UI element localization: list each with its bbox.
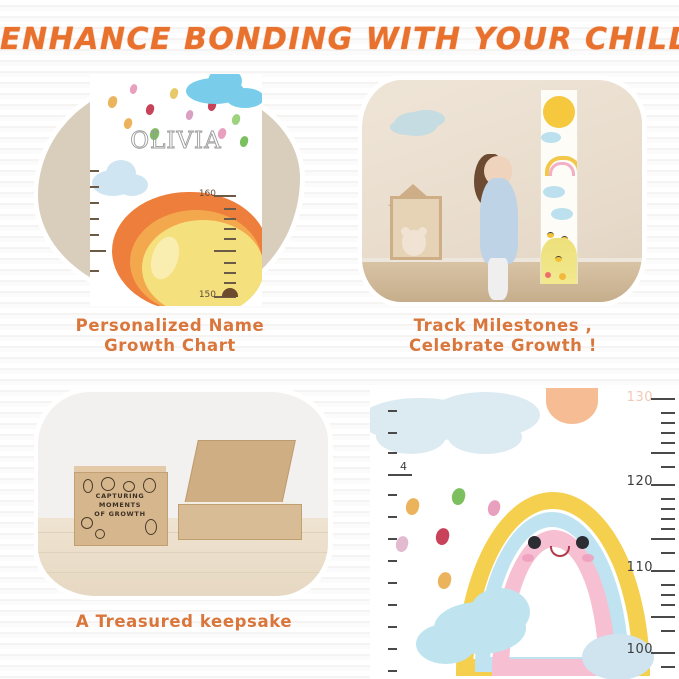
ruler-tick	[388, 516, 397, 518]
doodle-icon	[145, 519, 157, 535]
ruler-tick	[388, 604, 397, 606]
flower-icon	[545, 272, 551, 278]
sun-face-icon	[543, 96, 575, 128]
wall-growth-chart	[540, 90, 578, 284]
bear-ear	[418, 227, 427, 236]
ruler-scale: 160 150	[190, 192, 236, 304]
ruler-tick	[661, 604, 675, 606]
ruler-tick	[224, 262, 236, 264]
ruler-tick	[90, 270, 99, 272]
ruler-tick	[661, 442, 675, 444]
caption-track-milestones: Track Milestones , Celebrate Growth !	[358, 316, 648, 356]
ruler-tick	[224, 238, 236, 240]
ruler-tick	[661, 518, 675, 520]
ruler-tick	[388, 494, 397, 496]
ruler-tick	[661, 422, 675, 424]
ruler-label: 120	[627, 474, 653, 489]
ruler-tick	[214, 195, 236, 197]
confetti-dot	[185, 109, 195, 121]
ruler-tick	[661, 630, 675, 632]
confetti-dot	[168, 87, 179, 100]
rainbow-cheek	[582, 554, 594, 562]
ruler-tick	[224, 218, 236, 220]
cloud-shape	[448, 420, 522, 454]
ruler-tick	[224, 208, 236, 210]
caption-keepsake: A Treasured keepsake	[34, 612, 334, 632]
ruler-tick	[661, 432, 675, 434]
ruler-tick	[388, 538, 397, 540]
ruler-scale-left: 4	[388, 388, 418, 679]
teddy-bear	[402, 230, 426, 256]
ruler-tick	[661, 466, 675, 468]
ruler-tick	[661, 552, 675, 554]
ruler-tick	[661, 584, 675, 586]
ruler-tick	[388, 560, 397, 562]
ruler-tick	[661, 666, 675, 668]
confetti-dot	[436, 570, 454, 590]
ruler-label: 110	[627, 560, 653, 575]
ruler-tick	[388, 410, 397, 412]
child-body	[480, 178, 518, 264]
cloud-shape	[226, 88, 262, 108]
ruler-tick	[661, 498, 675, 500]
decor-cloud-icon	[394, 112, 438, 136]
box-base	[178, 504, 302, 540]
confetti-dot	[106, 95, 119, 109]
confetti-dot	[434, 526, 452, 546]
bee-icon	[555, 256, 562, 262]
ruler-tick	[388, 432, 397, 434]
ruler-scale-right: 130 120 110 100	[631, 388, 679, 679]
growth-chart-artwork: OLIVIA 160 150	[90, 74, 262, 306]
cloud-shape	[543, 186, 565, 198]
ruler-tick	[651, 398, 675, 400]
panel-rainbow-closeup: 130 120 110 100	[370, 388, 679, 679]
ruler-tick	[90, 186, 99, 188]
sun-partial-shape	[546, 388, 598, 424]
height-marker-icon	[222, 288, 238, 297]
floor-plank-line	[38, 552, 328, 553]
cloud-shape	[551, 208, 573, 220]
ruler-tick	[90, 202, 99, 204]
rainbow-cheek	[522, 554, 534, 562]
ruler-tick	[388, 452, 397, 454]
ruler-tick	[661, 594, 675, 596]
ruler-label: 4	[400, 460, 407, 473]
ruler-label: 130	[627, 390, 653, 405]
rainbow-eye	[576, 536, 589, 549]
cloud-shape	[416, 624, 476, 664]
ruler-label: 150	[199, 290, 216, 300]
ruler-tick	[388, 648, 397, 650]
ruler-tick	[388, 626, 397, 628]
doodle-icon	[143, 478, 156, 493]
panel-track-milestones	[358, 74, 648, 306]
ruler-tick	[651, 570, 675, 572]
box-label-text: CAPTURING MOMENTS OF GROWTH	[74, 492, 166, 519]
ruler-tick	[651, 538, 675, 540]
ruler-tick	[90, 218, 99, 220]
panel2-photo-blob	[362, 80, 642, 302]
ruler-tick	[661, 412, 675, 414]
ruler-tick	[224, 272, 236, 274]
flower-icon	[559, 273, 566, 280]
confetti-dot	[450, 486, 468, 506]
confetti-dot	[129, 83, 139, 95]
page-title: ENHANCE BONDING WITH YOUR CHILD	[0, 22, 679, 57]
ruler-tick	[651, 652, 675, 654]
rainbow-eye	[528, 536, 541, 549]
confetti-dot	[230, 113, 241, 126]
panel-personalized-chart: OLIVIA 160 150	[34, 74, 306, 306]
panel3-photo-blob: CAPTURING MOMENTS OF GROWTH	[38, 392, 328, 596]
ruler-tick	[661, 528, 675, 530]
ruler-tick	[90, 250, 106, 252]
ruler-label: 160	[199, 189, 216, 199]
ruler-tick	[388, 582, 397, 584]
doodle-icon	[101, 477, 115, 491]
ruler-tick	[651, 616, 675, 618]
personalized-name-text: OLIVIA	[90, 128, 262, 154]
panel-keepsake-box: CAPTURING MOMENTS OF GROWTH	[34, 388, 334, 600]
bee-icon	[547, 232, 554, 238]
ruler-tick	[224, 282, 236, 284]
confetti-dot	[144, 103, 155, 116]
ruler-tick	[214, 250, 236, 252]
doodle-icon	[123, 481, 135, 492]
ruler-label: 100	[627, 642, 653, 657]
confetti-dot	[486, 499, 502, 518]
cloud-shape	[470, 588, 530, 636]
ruler-tick	[90, 234, 99, 236]
cloud-shape	[541, 132, 561, 143]
ruler-tick	[388, 670, 397, 672]
promo-stage: ENHANCE BONDING WITH YOUR CHILD	[0, 0, 679, 679]
bear-ear	[401, 227, 410, 236]
floor-plank-line	[38, 572, 328, 573]
caption-personalized-chart: Personalized Name Growth Chart	[34, 316, 306, 356]
cloud-shape	[116, 174, 148, 196]
ruler-tick	[651, 452, 675, 454]
ruler-tick	[651, 484, 675, 486]
ruler-tick	[90, 170, 99, 172]
ruler-tick	[661, 508, 675, 510]
ruler-tick	[224, 228, 236, 230]
ruler-tick	[388, 474, 412, 476]
doodle-icon	[83, 479, 93, 493]
doodle-icon	[95, 529, 105, 539]
child-legs	[488, 258, 508, 300]
